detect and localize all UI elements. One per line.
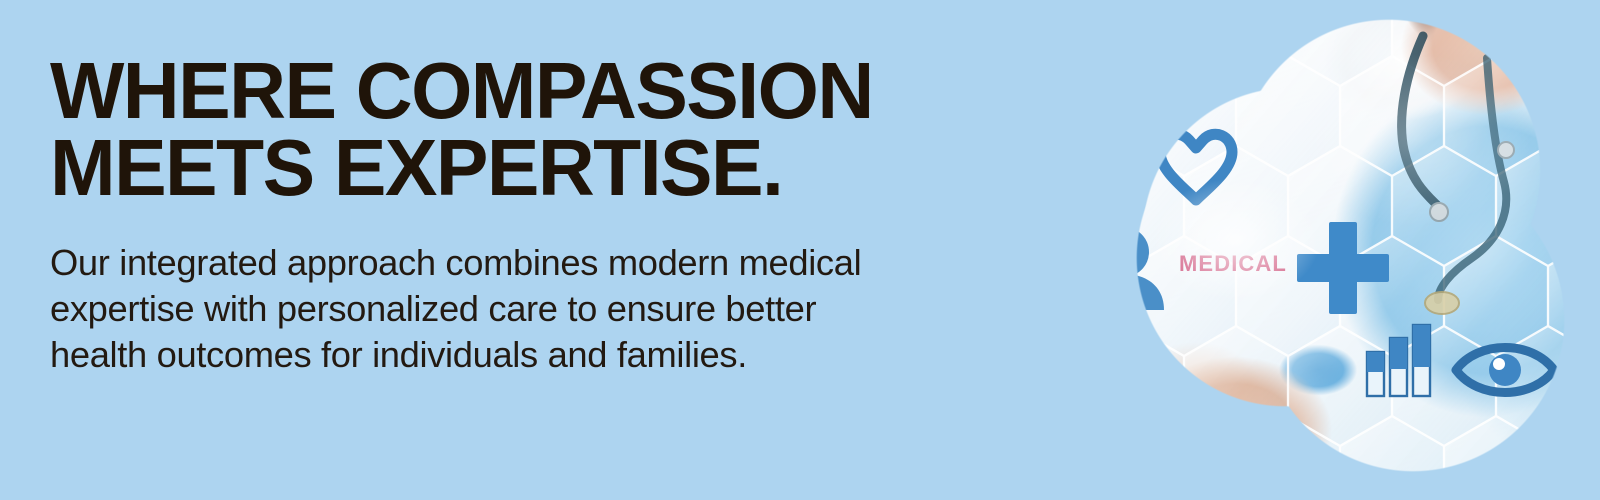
bar-chart-icon bbox=[1367, 325, 1430, 396]
hero-image: MEDICAL bbox=[1086, 0, 1578, 500]
person-plus-icon bbox=[1104, 50, 1176, 106]
image-blob-mask: MEDICAL bbox=[1086, 0, 1578, 500]
hero-text-column: WHERE COMPASSION MEETS EXPERTISE. Our in… bbox=[50, 52, 1070, 378]
subcopy-line-2: expertise with personalized care to ensu… bbox=[50, 286, 1065, 332]
cross-icon bbox=[1297, 222, 1389, 314]
pie-chart-icon bbox=[1306, 452, 1354, 500]
subcopy-line-1: Our integrated approach combines modern … bbox=[50, 240, 1065, 286]
medical-label: MEDICAL bbox=[1179, 251, 1287, 277]
page-title: WHERE COMPASSION MEETS EXPERTISE. bbox=[50, 52, 1055, 206]
user-icon bbox=[1086, 227, 1164, 310]
hero-subcopy: Our integrated approach combines modern … bbox=[50, 240, 1065, 377]
hero-banner: WHERE COMPASSION MEETS EXPERTISE. Our in… bbox=[0, 0, 1600, 500]
subcopy-line-3: health outcomes for individuals and fami… bbox=[50, 332, 1065, 378]
headline-line-1: WHERE COMPASSION bbox=[50, 52, 1055, 129]
headline-line-2: MEETS EXPERTISE. bbox=[50, 129, 1055, 206]
eye-icon bbox=[1456, 348, 1554, 393]
heart-icon bbox=[1160, 134, 1232, 200]
